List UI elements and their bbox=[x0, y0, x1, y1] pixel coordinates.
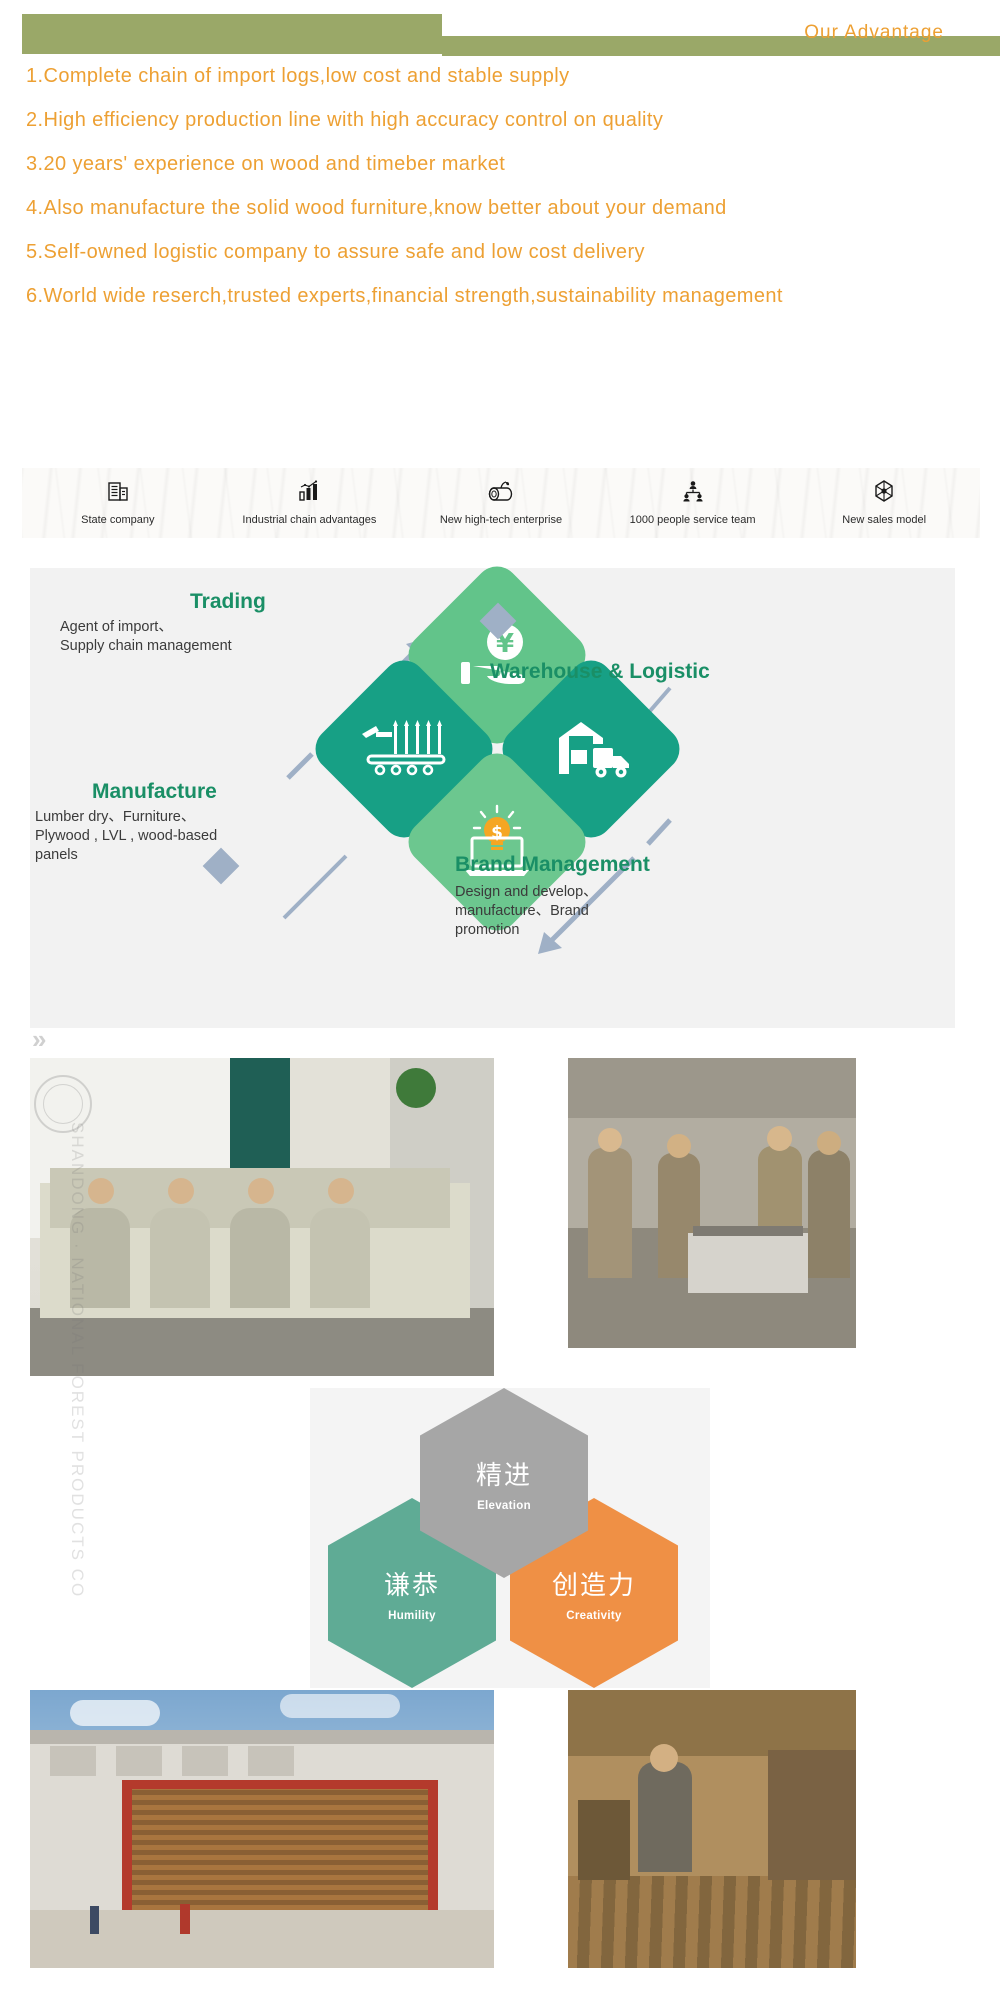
log-icon bbox=[405, 478, 597, 506]
diamond-label-brand: Brand Management bbox=[455, 853, 650, 877]
diamond-desc-brand: Design and develop、 manufacture、Brand pr… bbox=[455, 883, 695, 940]
header-bar-left bbox=[22, 14, 442, 54]
diamond-label-manufacture: Manufacture bbox=[92, 780, 217, 804]
page-title: Our Advantage bbox=[442, 22, 972, 48]
feature-industrial-chain: Industrial chain advantages bbox=[214, 478, 406, 528]
diamond-label-warehouse: Warehouse & Logistic bbox=[490, 660, 710, 684]
feature-label: State company bbox=[81, 514, 154, 526]
team-photo bbox=[30, 1058, 494, 1376]
hexagon-en-label: Humility bbox=[388, 1610, 436, 1622]
svg-text:$: $ bbox=[491, 823, 503, 843]
feature-service-team: 1000 people service team bbox=[597, 478, 789, 528]
feature-label: 1000 people service team bbox=[630, 514, 756, 526]
people-org-icon bbox=[597, 478, 789, 506]
feature-state-company: State company bbox=[22, 478, 214, 528]
advantage-item-1: 1.Complete chain of import logs,low cost… bbox=[26, 62, 974, 91]
feature-label: New sales model bbox=[842, 514, 926, 526]
page-header-banner: Our Advantage bbox=[0, 0, 1000, 60]
hexagon-en-label: Elevation bbox=[477, 1500, 531, 1512]
hexagon-cn-label: 谦恭 bbox=[384, 1565, 440, 1602]
diamond-desc-manufacture: Lumber dry、Furniture、 Plywood , LVL , wo… bbox=[35, 808, 285, 865]
advantage-item-3: 3.20 years' experience on wood and timeb… bbox=[26, 150, 974, 179]
factory-photo bbox=[568, 1058, 856, 1348]
hexagon-cn-label: 创造力 bbox=[552, 1565, 636, 1602]
core-values-diagram: 精进 Elevation 谦恭 Humility 创造力 Creativity bbox=[310, 1388, 710, 1688]
building-icon bbox=[22, 478, 214, 506]
feature-high-tech: New high-tech enterprise bbox=[405, 478, 597, 528]
advantage-item-6: 6.World wide reserch,trusted experts,fin… bbox=[26, 282, 974, 311]
advantage-list: 1.Complete chain of import logs,low cost… bbox=[26, 62, 974, 326]
bar-chart-icon bbox=[214, 478, 406, 506]
watermark-arrows-icon: » bbox=[32, 1024, 40, 1055]
hexagon-cn-label: 精进 bbox=[476, 1455, 532, 1492]
feature-icon-strip: State company Industrial chain advantage… bbox=[22, 468, 980, 538]
advantage-item-2: 2.High efficiency production line with h… bbox=[26, 106, 974, 135]
production-line-icon bbox=[358, 718, 450, 780]
business-model-diagram: ¥ Trading Agent of import、 Supply chain … bbox=[30, 568, 955, 1028]
watermark-seal-icon bbox=[34, 1075, 92, 1133]
network-icon bbox=[788, 478, 980, 506]
hexagon-en-label: Creativity bbox=[566, 1610, 621, 1622]
diamond-label-trading: Trading bbox=[190, 590, 266, 614]
feature-sales-model: New sales model bbox=[788, 478, 980, 528]
workshop-photo bbox=[568, 1690, 856, 1968]
kiln-photo bbox=[30, 1690, 494, 1968]
feature-label: Industrial chain advantages bbox=[242, 514, 376, 526]
advantage-item-4: 4.Also manufacture the solid wood furnit… bbox=[26, 194, 974, 223]
diamond-desc-trading: Agent of import、 Supply chain management bbox=[60, 618, 310, 656]
advantage-item-5: 5.Self-owned logistic company to assure … bbox=[26, 238, 974, 267]
feature-label: New high-tech enterprise bbox=[440, 514, 562, 526]
